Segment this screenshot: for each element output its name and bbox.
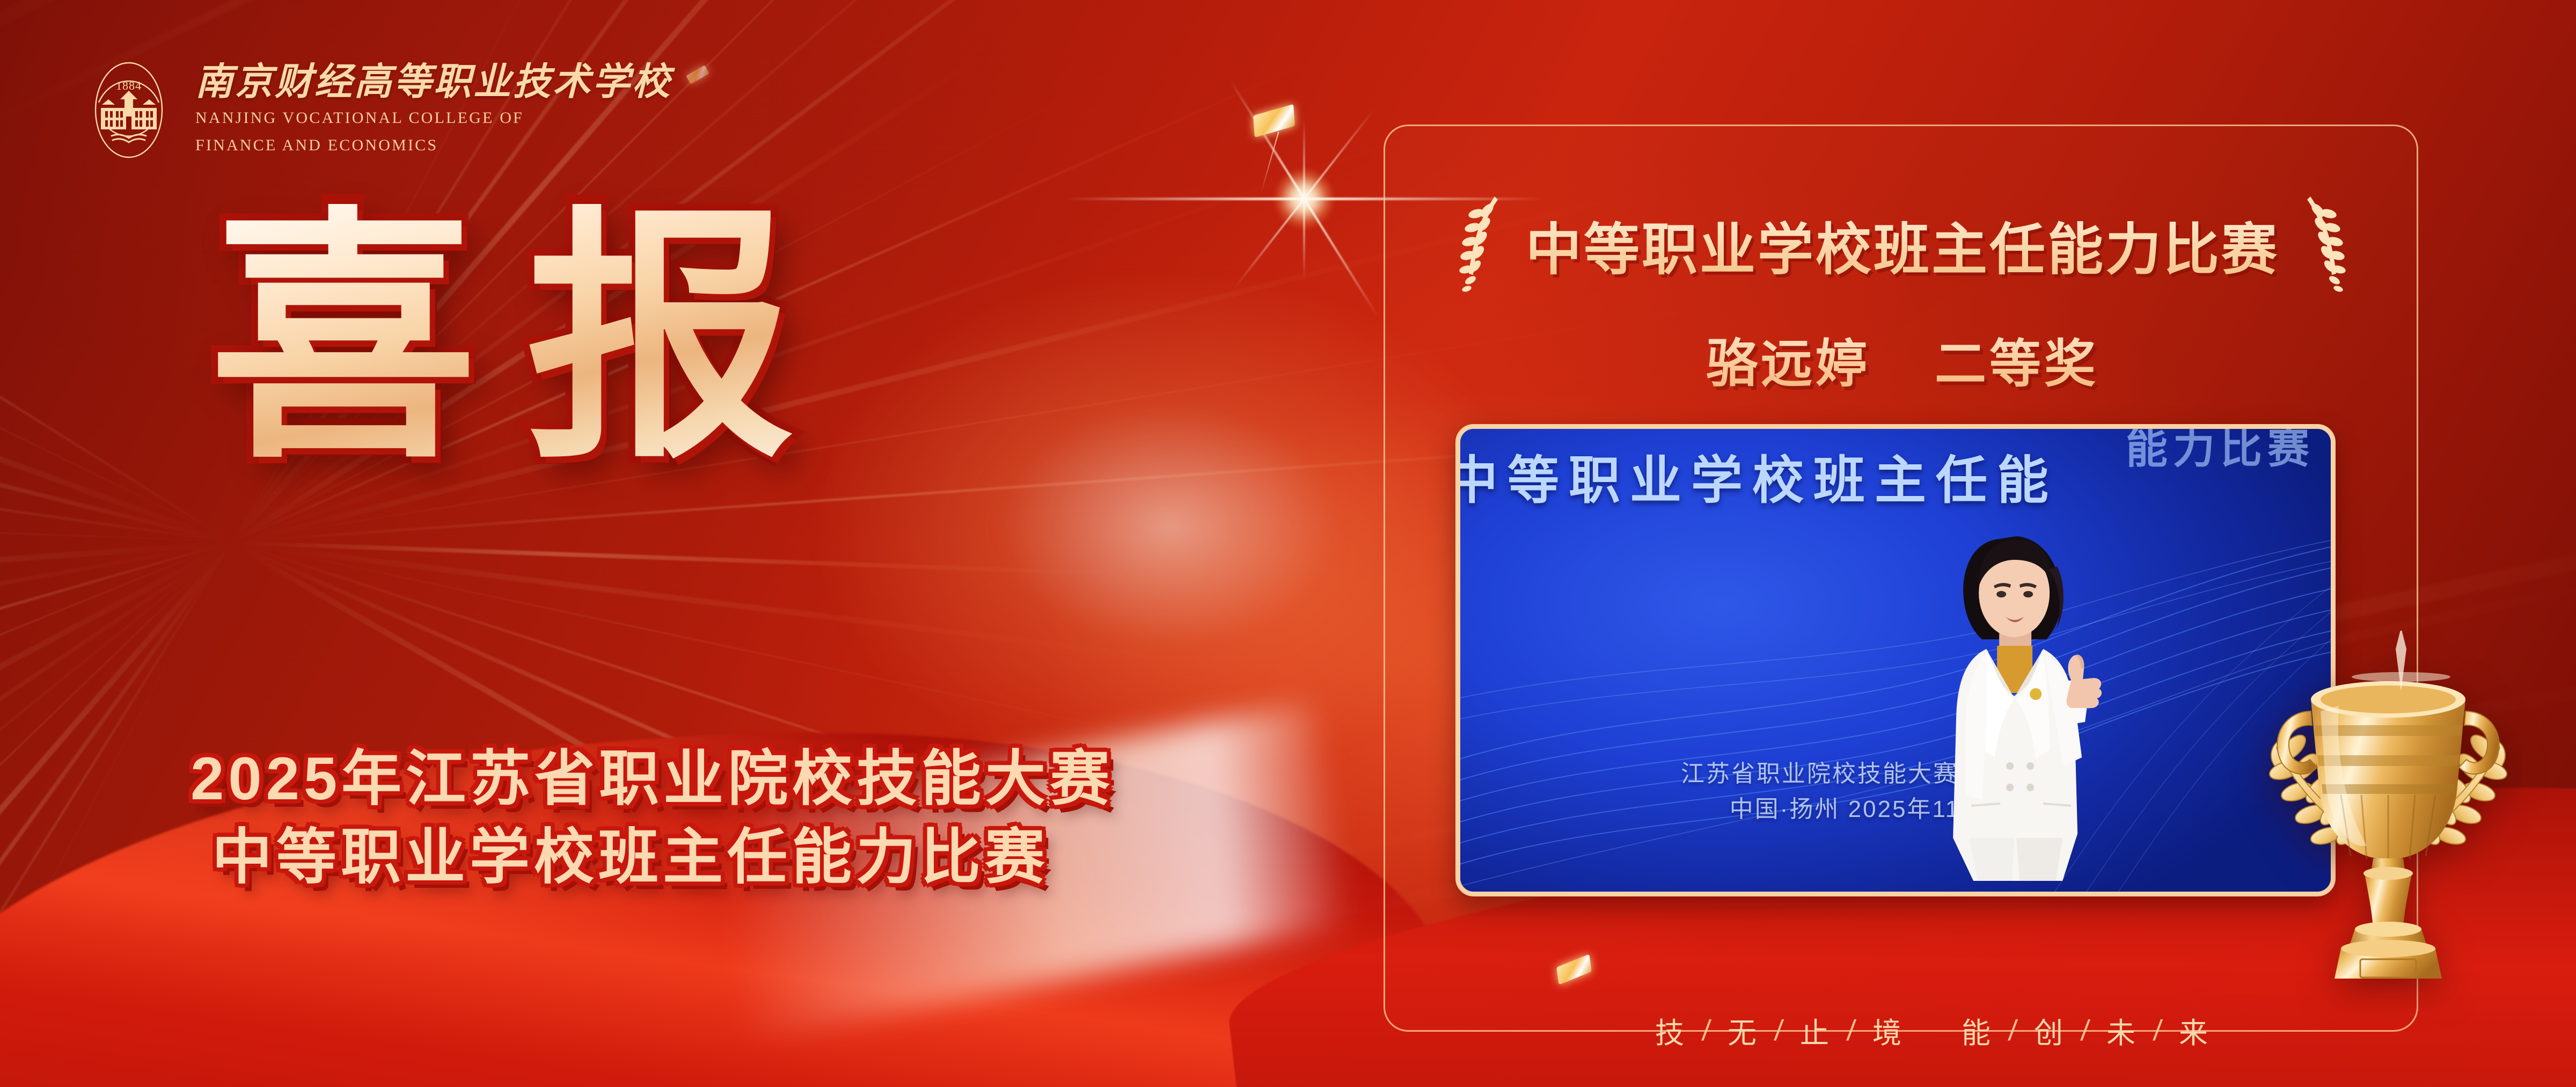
award-card-title-row: 中等职业学校班主任能力比赛 bbox=[1417, 193, 2388, 295]
slogan-separator: / bbox=[2149, 1014, 2167, 1047]
school-emblem-icon: 1884 bbox=[80, 56, 177, 164]
page-title: 喜报 bbox=[209, 204, 843, 472]
slogan-char: 止 bbox=[1786, 1009, 1844, 1052]
poster-canvas: 1884 bbox=[0, 0, 2576, 1087]
slogan-separator: / bbox=[1697, 1014, 1716, 1047]
winner-row: 骆远婷 二等奖 bbox=[1417, 322, 2388, 397]
slogan-separator: / bbox=[2076, 1014, 2095, 1047]
wheat-branch-left-icon bbox=[1453, 193, 1512, 295]
confetti-gold-ribbon bbox=[1253, 110, 1295, 132]
wheat-branch-right-icon bbox=[2293, 193, 2352, 295]
slogan-separator: / bbox=[2004, 1014, 2022, 1047]
slogan-char: 境 bbox=[1858, 1009, 1916, 1052]
slogan-char: 技 bbox=[1641, 1009, 1699, 1052]
subtitle-line-1: 2025年江苏省职业院校技能大赛 bbox=[191, 743, 1114, 814]
winner-photo: 中等职业学校班主任能 能力比赛 江苏省职业院校技能大赛组委会 中国·扬州 202… bbox=[1455, 424, 2336, 896]
school-name-en-line2: FINANCE AND ECONOMICS bbox=[195, 133, 672, 157]
slogan-separator: / bbox=[1842, 1014, 1861, 1047]
slogan-separator: / bbox=[1770, 1014, 1788, 1047]
winner-name: 骆远婷 bbox=[1706, 322, 1870, 397]
school-name-cn: 南京财经高等职业技术学校 bbox=[195, 63, 672, 103]
award-level: 二等奖 bbox=[1935, 322, 2099, 397]
slogan-char: 创 bbox=[2020, 1009, 2078, 1052]
stage-banner-text-secondary: 能力比赛 bbox=[2126, 424, 2315, 475]
slogan-char: 未 bbox=[2092, 1009, 2150, 1052]
competition-subtitle: 2025年江苏省职业院校技能大赛 中等职业学校班主任能力比赛 bbox=[191, 743, 1114, 893]
confetti-gold-ribbon bbox=[687, 70, 708, 79]
gold-trophy-icon bbox=[2216, 631, 2560, 1006]
school-brand: 1884 bbox=[80, 56, 672, 164]
award-card-title: 中等职业学校班主任能力比赛 bbox=[1526, 204, 2279, 285]
svg-text:1884: 1884 bbox=[116, 79, 142, 92]
stage-backdrop: 中等职业学校班主任能 能力比赛 江苏省职业院校技能大赛组委会 中国·扬州 202… bbox=[1460, 429, 2331, 892]
school-name-en-line1: NANJING VOCATIONAL COLLEGE OF bbox=[195, 106, 672, 130]
slogan-char: 能 bbox=[1948, 1009, 2006, 1052]
slogan-bar: 技 / 无 / 止 / 境 能 / 创 / 未 / 来 bbox=[1449, 1009, 2415, 1052]
slogan-char: 来 bbox=[2165, 1009, 2223, 1052]
stage-banner-text: 中等职业学校班主任能 bbox=[1455, 439, 2058, 513]
subtitle-line-2: 中等职业学校班主任能力比赛 bbox=[212, 822, 1114, 893]
winner-person-figure bbox=[1871, 505, 2172, 892]
slogan-char: 无 bbox=[1714, 1009, 1772, 1052]
